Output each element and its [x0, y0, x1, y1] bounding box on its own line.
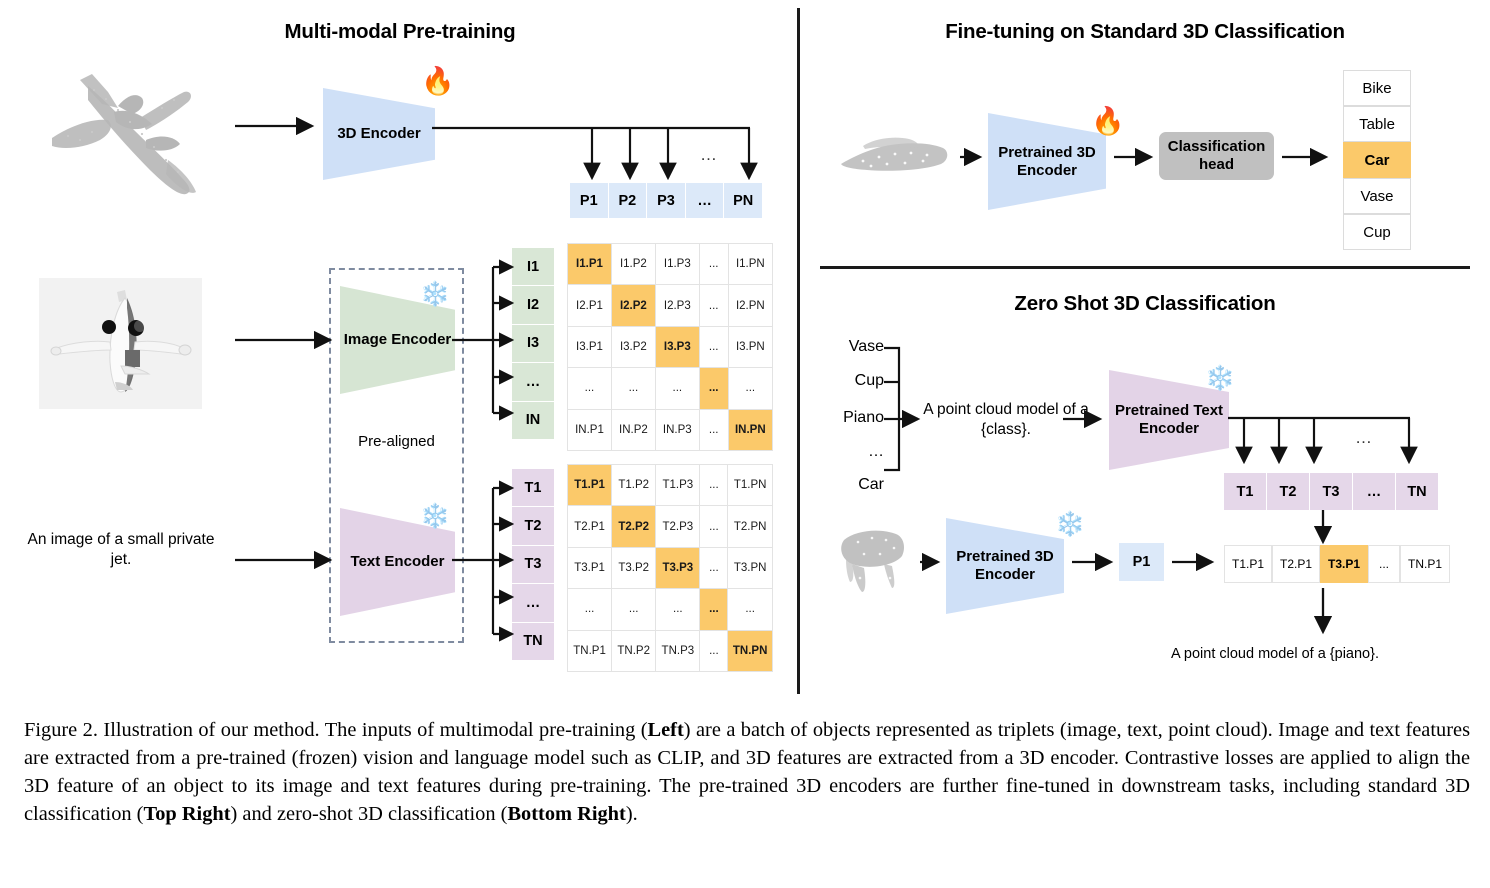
text-matrix-cell: ... — [656, 589, 700, 630]
image-matrix-cell: I2.PN — [728, 285, 772, 326]
text-feature-label: T3 — [525, 556, 542, 572]
image-matrix-cell: I1.PN — [728, 244, 772, 285]
image-feature-label: IN — [526, 412, 541, 428]
text-matrix-cell: ... — [700, 630, 728, 671]
text-feature-cell: T2 — [512, 507, 554, 545]
image-matrix-cell: ... — [568, 368, 612, 409]
image-matrix-cell: I2.P1 — [568, 285, 612, 326]
pc-feature-cell: P2 — [609, 183, 648, 218]
snowflake-icon: ❄️ — [1055, 513, 1085, 537]
image-matrix-cell: ... — [699, 244, 728, 285]
text-matrix-cell: TN.P2 — [612, 630, 656, 671]
text-matrix-cell: T2.PN — [728, 506, 773, 547]
zero-shot-score-cell: T2.P1 — [1272, 545, 1320, 583]
zero-shot-text-feature-cell: T1 — [1224, 473, 1267, 510]
pc-feature-cell: PN — [724, 183, 763, 218]
text-feature-cell: T1 — [512, 469, 554, 507]
piano-point-cloud — [832, 520, 918, 598]
zero-shot-score-label: TN.P1 — [1408, 557, 1442, 571]
fire-icon: 🔥 — [1091, 108, 1125, 135]
pretrained-text-encoder-label: Pretrained Text Encoder — [1109, 402, 1229, 438]
text-matrix-cell: ... — [700, 547, 728, 588]
zero-shot-result: A point cloud model of a {piano}. — [1120, 645, 1430, 664]
encoder-3d[interactable]: 3D Encoder — [323, 88, 435, 180]
zero-shot-text-feature-label: T2 — [1280, 484, 1297, 500]
image-matrix-cell: IN.P2 — [611, 409, 655, 450]
zero-shot-class-label: Vase — [822, 338, 884, 356]
zero-shot-text-feature-label: T1 — [1237, 484, 1254, 500]
text-matrix-cell: ... — [700, 506, 728, 547]
pc-feature-cell: P3 — [647, 183, 686, 218]
class-list-item[interactable]: Cup — [1343, 214, 1411, 250]
classification-head[interactable]: Classification head — [1159, 132, 1274, 180]
zero-shot-class-label: … — [822, 443, 884, 461]
image-matrix-cell: ... — [699, 409, 728, 450]
encoder-text-label: Text Encoder — [351, 553, 445, 571]
class-list-item-label: Vase — [1360, 188, 1393, 205]
class-list-item[interactable]: Bike — [1343, 70, 1411, 106]
zero-shot-score-label: ... — [1379, 557, 1389, 571]
zero-shot-text-feature-cell: … — [1353, 473, 1396, 510]
pretrained-3d-encoder-zeroshot[interactable]: Pretrained 3D Encoder — [946, 518, 1064, 614]
prompt-template: A point cloud model of a {class}. — [910, 400, 1102, 440]
text-matrix-cell: T3.P2 — [612, 547, 656, 588]
image-matrix-cell: I3.P3 — [655, 326, 699, 367]
fire-icon: 🔥 — [421, 68, 455, 95]
text-matrix-cell: TN.P1 — [568, 630, 612, 671]
text-matrix-row: TN.P1TN.P2TN.P3...TN.PN — [568, 630, 773, 671]
class-list-item[interactable]: Vase — [1343, 178, 1411, 214]
image-matrix-cell: ... — [655, 368, 699, 409]
encoder-image-label: Image Encoder — [344, 331, 452, 349]
zero-shot-fanout-ellipsis: … — [1355, 428, 1372, 448]
image-matrix-cell: I1.P2 — [611, 244, 655, 285]
pc-fanout-ellipsis: … — [700, 145, 717, 165]
encoder-3d-label: 3D Encoder — [337, 125, 420, 143]
image-matrix-row: IN.P1IN.P2IN.P3...IN.PN — [568, 409, 773, 450]
zero-shot-pc-feature-label: P1 — [1133, 554, 1151, 570]
pc-feature-label: … — [697, 193, 712, 209]
text-feature-cell: T3 — [512, 546, 554, 584]
text-matrix-cell: T1.PN — [728, 465, 773, 506]
zero-shot-text-feature-label: … — [1367, 484, 1382, 500]
pc-feature-label: P1 — [580, 193, 598, 209]
zero-shot-score-label: T2.P1 — [1280, 557, 1312, 571]
text-matrix-cell: TN.PN — [728, 630, 773, 671]
caption-bold-bottom-right: Bottom Right — [507, 803, 625, 825]
text-feature-label: TN — [523, 633, 542, 649]
image-matrix-cell: I1.P3 — [655, 244, 699, 285]
text-feature-cell: … — [512, 584, 554, 622]
pretrained-3d-encoder-finetune-label: Pretrained 3D Encoder — [988, 144, 1106, 180]
zero-shot-pc-feature: P1 — [1119, 543, 1164, 581]
panel-divider-vertical — [797, 8, 800, 694]
input-text-caption: An image of a small private jet. — [26, 530, 216, 570]
zero-shot-score-cell: ... — [1368, 545, 1400, 583]
class-list-item-label: Bike — [1362, 80, 1391, 97]
input-rendered-image — [39, 278, 202, 409]
text-feature-label: T1 — [525, 480, 542, 496]
image-matrix-cell: IN.PN — [728, 409, 772, 450]
image-matrix-cell: IN.P3 — [655, 409, 699, 450]
image-matrix-cell: IN.P1 — [568, 409, 612, 450]
image-matrix-cell: I1.P1 — [568, 244, 612, 285]
text-matrix-cell: ... — [700, 589, 728, 630]
zero-shot-text-feature-label: TN — [1407, 484, 1426, 500]
text-matrix-cell: T3.P3 — [656, 547, 700, 588]
left-panel-title: Multi-modal Pre-training — [180, 20, 620, 44]
image-feature-label: I1 — [527, 259, 539, 275]
image-matrix-cell: I3.P1 — [568, 326, 612, 367]
text-matrix-cell: ... — [728, 589, 773, 630]
image-matrix-cell: ... — [699, 368, 728, 409]
text-matrix-cell: T2.P1 — [568, 506, 612, 547]
pretrained-3d-encoder-zeroshot-label: Pretrained 3D Encoder — [946, 548, 1064, 584]
image-matrix-cell: ... — [699, 326, 728, 367]
pc-feature-cell: … — [686, 183, 725, 218]
zero-shot-score-label: T3.P1 — [1328, 557, 1360, 571]
bottom-right-panel-title: Zero Shot 3D Classification — [900, 292, 1390, 316]
panel-divider-horizontal — [820, 266, 1470, 269]
image-feature-cell: I2 — [512, 286, 554, 324]
zero-shot-text-feature-label: T3 — [1323, 484, 1340, 500]
zero-shot-text-feature-cell: TN — [1396, 473, 1439, 510]
image-matrix-cell: ... — [699, 285, 728, 326]
pretrained-3d-encoder-finetune[interactable]: Pretrained 3D Encoder — [988, 113, 1106, 210]
zero-shot-score-cell: T3.P1 — [1320, 545, 1368, 583]
class-list-item[interactable]: Table — [1343, 106, 1411, 142]
image-matrix-cell: I2.P3 — [655, 285, 699, 326]
pc-feature-label: P2 — [619, 193, 637, 209]
image-matrix-cell: I3.P2 — [611, 326, 655, 367]
image-feature-cell: IN — [512, 402, 554, 440]
input-point-cloud-airplane — [22, 52, 252, 212]
class-list-item-label: Table — [1359, 116, 1395, 133]
text-matrix-row: ............... — [568, 589, 773, 630]
figure-caption: Figure 2. Illustration of our method. Th… — [24, 716, 1470, 829]
pc-feature-cell: P1 — [570, 183, 609, 218]
image-matrix-cell: I2.P2 — [611, 285, 655, 326]
class-list-item-label: Cup — [1363, 224, 1391, 241]
text-feature-cell: TN — [512, 623, 554, 661]
snowflake-icon: ❄️ — [420, 283, 450, 307]
image-feature-cell: … — [512, 363, 554, 401]
image-matrix-cell: ... — [728, 368, 772, 409]
text-matrix-cell: T3.P1 — [568, 547, 612, 588]
caption-bold-top-right: Top Right — [143, 803, 230, 825]
classification-head-label: Classification head — [1159, 138, 1274, 175]
top-right-panel-title: Fine-tuning on Standard 3D Classificatio… — [855, 20, 1435, 44]
text-matrix-cell: ... — [568, 589, 612, 630]
snowflake-icon: ❄️ — [420, 505, 450, 529]
zero-shot-score-cell: TN.P1 — [1400, 545, 1450, 583]
image-matrix-cell: I3.PN — [728, 326, 772, 367]
image-similarity-matrix: I1.P1I1.P2I1.P3...I1.PNI2.P1I2.P2I2.P3..… — [567, 243, 773, 451]
image-matrix-row: ............... — [568, 368, 773, 409]
text-matrix-row: T1.P1T1.P2T1.P3...T1.PN — [568, 465, 773, 506]
text-matrix-cell: T1.P1 — [568, 465, 612, 506]
zero-shot-class-label: Cup — [822, 372, 884, 390]
zero-shot-text-feature-cell: T3 — [1310, 473, 1353, 510]
text-matrix-row: T2.P1T2.P2T2.P3...T2.PN — [568, 506, 773, 547]
car-point-cloud — [833, 130, 953, 186]
text-matrix-cell: T2.P2 — [612, 506, 656, 547]
text-matrix-row: T3.P1T3.P2T3.P3...T3.PN — [568, 547, 773, 588]
zero-shot-score-label: T1.P1 — [1232, 557, 1264, 571]
text-matrix-cell: T1.P2 — [612, 465, 656, 506]
text-matrix-cell: ... — [612, 589, 656, 630]
image-matrix-row: I2.P1I2.P2I2.P3...I2.PN — [568, 285, 773, 326]
pc-feature-label: P3 — [657, 193, 675, 209]
text-matrix-cell: ... — [700, 465, 728, 506]
class-list-item[interactable]: Car — [1343, 142, 1411, 178]
image-feature-cell: I3 — [512, 325, 554, 363]
pc-feature-label: PN — [733, 193, 753, 209]
image-feature-label: I2 — [527, 297, 539, 313]
zero-shot-class-label: Piano — [822, 409, 884, 427]
image-feature-cell: I1 — [512, 248, 554, 286]
image-feature-label: … — [526, 374, 541, 390]
text-similarity-matrix: T1.P1T1.P2T1.P3...T1.PNT2.P1T2.P2T2.P3..… — [567, 464, 773, 672]
zero-shot-text-feature-cell: T2 — [1267, 473, 1310, 510]
zero-shot-score-cell: T1.P1 — [1224, 545, 1272, 583]
snowflake-icon: ❄️ — [1205, 367, 1235, 391]
image-matrix-row: I1.P1I1.P2I1.P3...I1.PN — [568, 244, 773, 285]
text-feature-label: … — [526, 595, 541, 611]
image-matrix-cell: ... — [611, 368, 655, 409]
text-feature-label: T2 — [525, 518, 542, 534]
image-feature-label: I3 — [527, 335, 539, 351]
caption-bold-left: Left — [648, 719, 684, 741]
caption-part-1: Figure 2. Illustration of our method. Th… — [24, 719, 648, 741]
image-matrix-row: I3.P1I3.P2I3.P3...I3.PN — [568, 326, 773, 367]
text-matrix-cell: T2.P3 — [656, 506, 700, 547]
text-matrix-cell: T3.PN — [728, 547, 773, 588]
zero-shot-class-label: Car — [822, 476, 884, 494]
figure-root: Multi-modal Pre-training Fine-tuning on … — [0, 0, 1490, 888]
caption-part-3: ) and zero-shot 3D classification ( — [231, 803, 508, 825]
text-matrix-cell: TN.P3 — [656, 630, 700, 671]
caption-part-4: ). — [626, 803, 638, 825]
text-matrix-cell: T1.P3 — [656, 465, 700, 506]
prealigned-label: Pre-aligned — [330, 432, 463, 452]
class-list-item-label: Car — [1364, 152, 1389, 169]
